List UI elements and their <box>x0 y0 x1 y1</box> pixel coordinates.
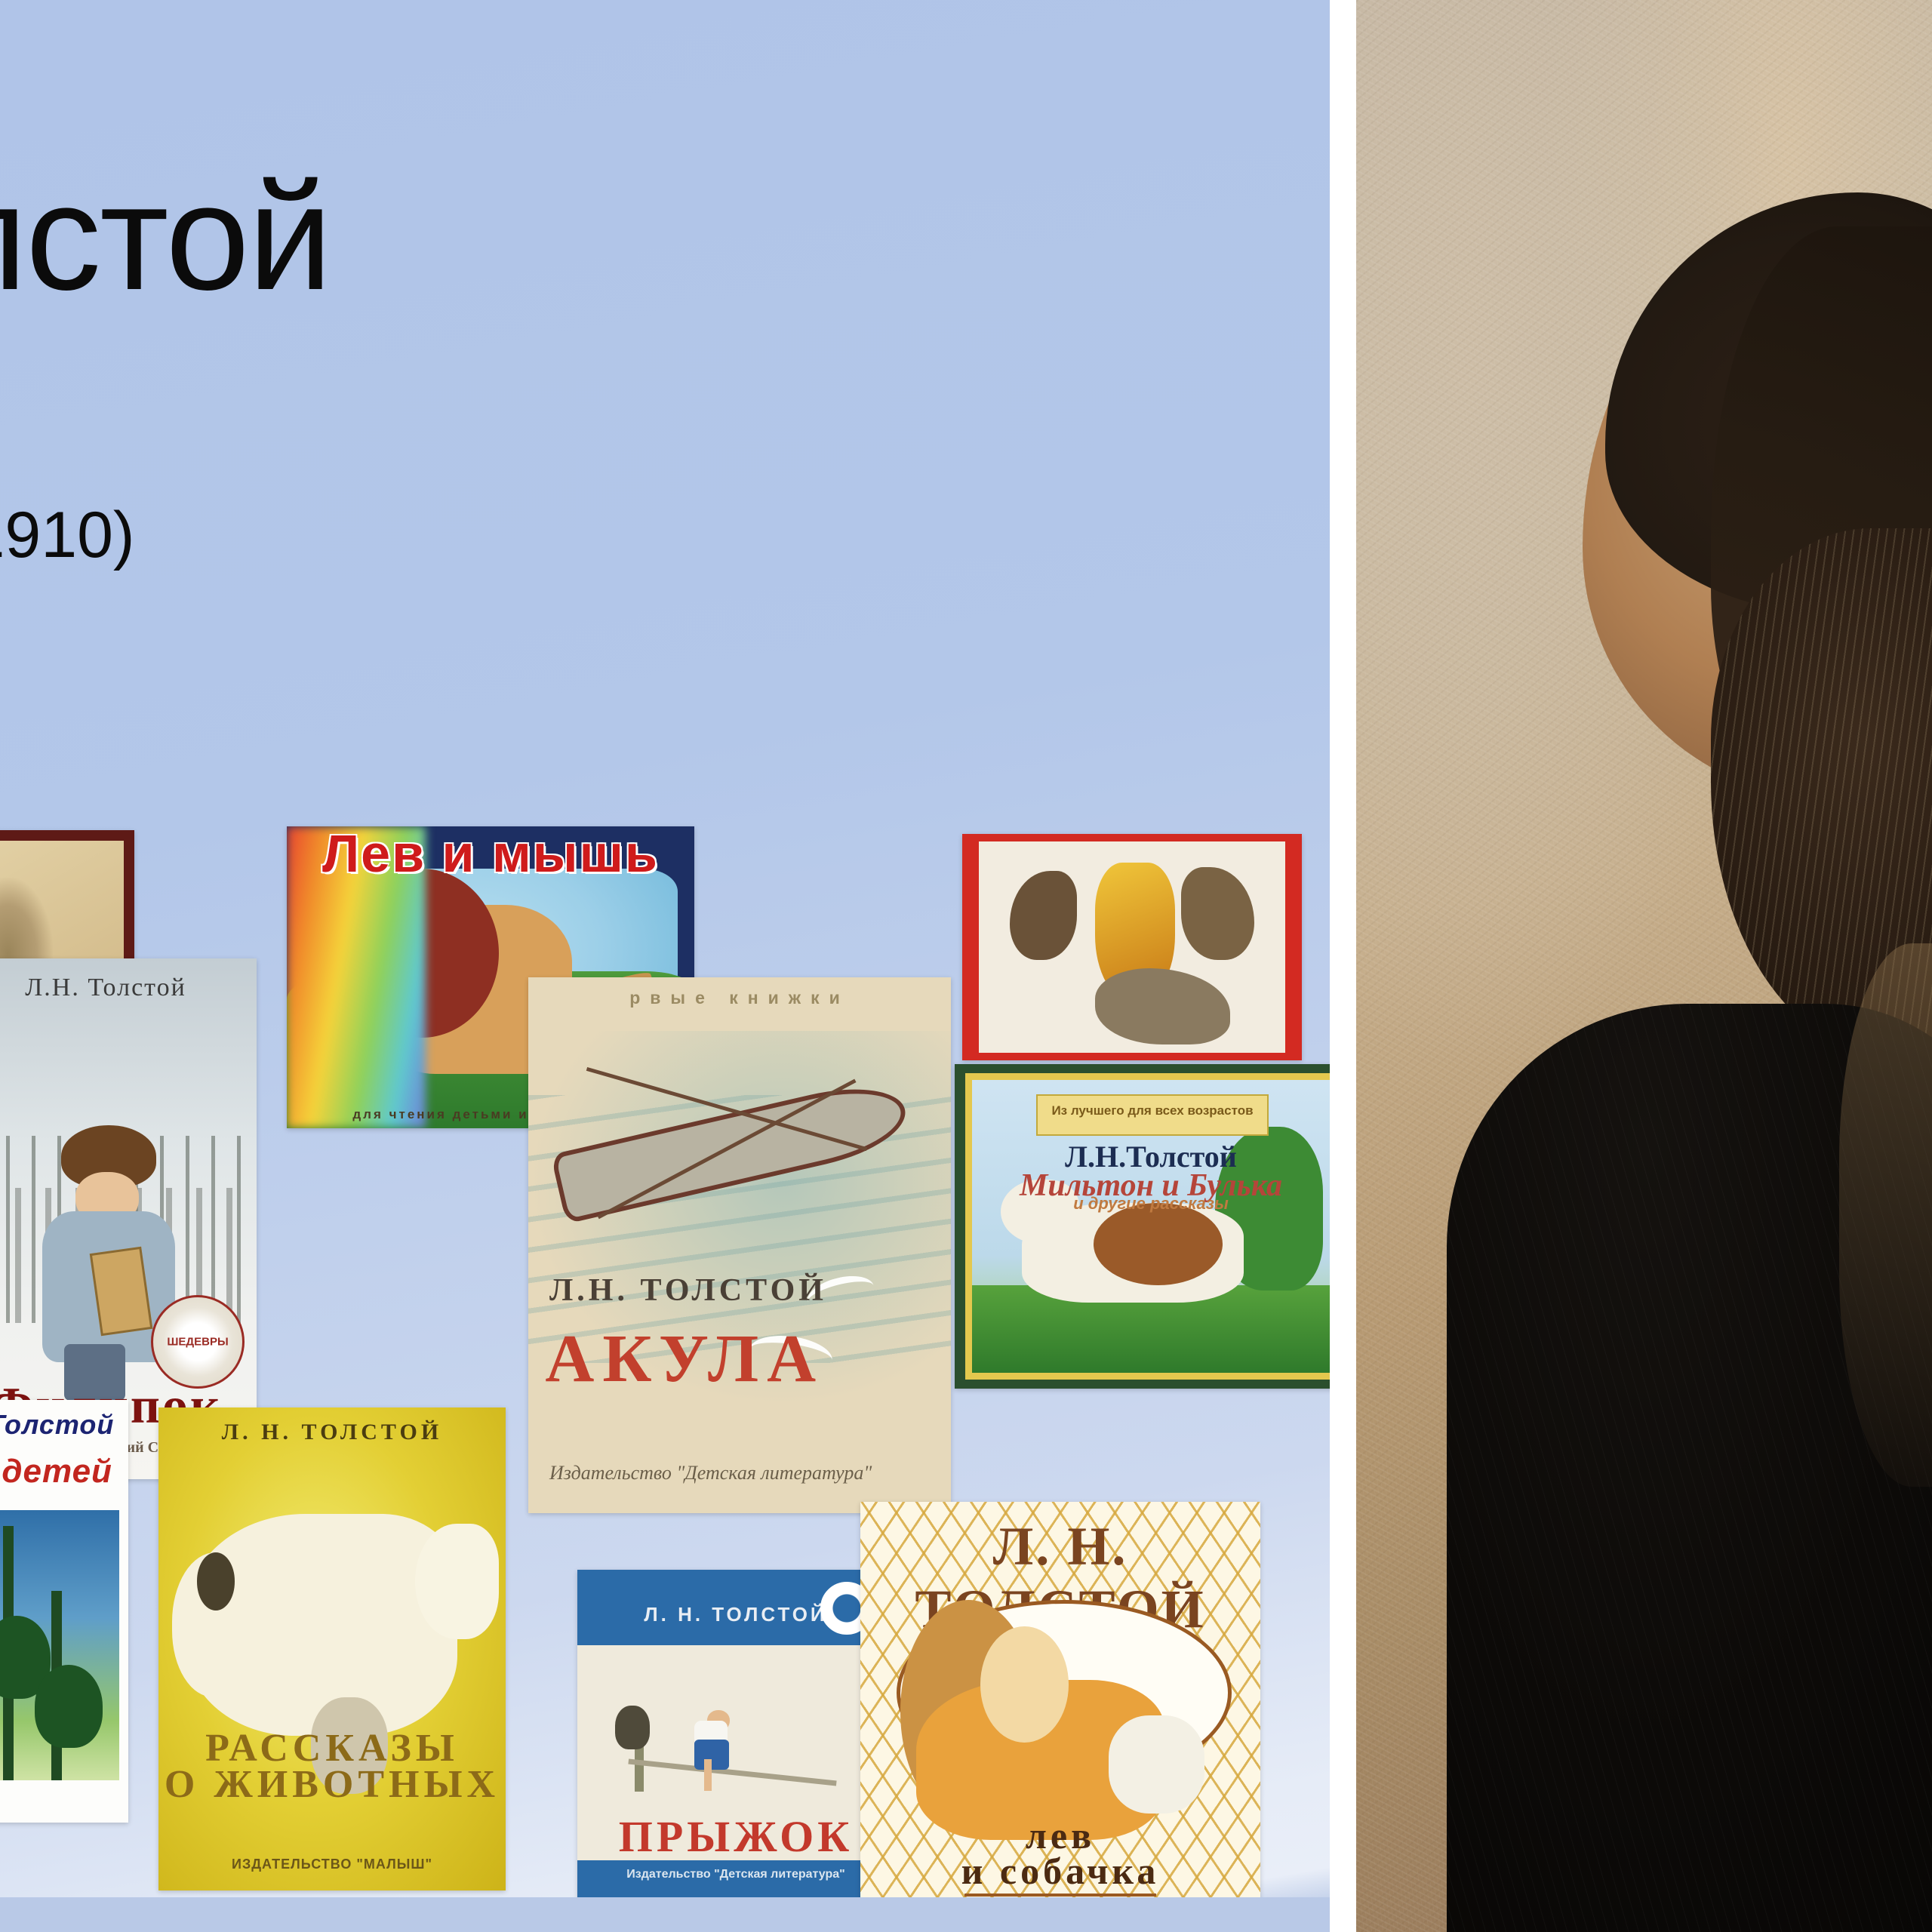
book-cover-dlya-detei: Л.Н. Толстой Для детей <box>0 1400 128 1823</box>
book-cover-pryzhok: Л. Н. ТОЛСТОЙ ПРЫЖОК Издательство "Детск… <box>577 1570 894 1932</box>
puppy-illustration <box>1109 1715 1204 1814</box>
seal-label: ШЕДЕВРЫ <box>167 1336 228 1349</box>
tree-canopy <box>35 1665 103 1748</box>
boy-shorts <box>694 1740 729 1770</box>
cover-banner-text: Из лучшего для всех возрастов <box>1038 1103 1266 1118</box>
slide-bottom-band <box>0 1897 1330 1932</box>
cover-subtitle-text: и другие рассказы <box>972 1194 1330 1214</box>
boy-book-prop <box>89 1247 152 1336</box>
book-cover-lev-i-sobachka: Л. Н. ТОЛСТОЙ лев и собачка Издательство… <box>860 1502 1260 1932</box>
cover-publisher-text: Издательство "Детская литература" <box>549 1462 872 1484</box>
forest-illustration <box>0 1510 119 1780</box>
cover-author-text: Л.Н. Толстой <box>0 1409 128 1441</box>
cover-frame: Из лучшего для всех возрастов Л.Н.Толсто… <box>965 1073 1330 1380</box>
page-subtitle: (1828-1910) <box>0 498 135 573</box>
cover-seal-badge: ШЕДЕВРЫ <box>151 1295 245 1389</box>
bird-illustration <box>1181 867 1254 960</box>
boat-hull <box>550 1075 912 1225</box>
boat-illustration <box>554 1052 900 1234</box>
cover-publisher-text: ИЗДАТЕЛЬСТВО "МАЛЫШ" <box>158 1857 506 1872</box>
cover-series-text: рвые книжки <box>528 988 951 1008</box>
book-cover-rasskazy-o-zhivotnyh: Л. Н. ТОЛСТОЙ РАССКАЗЫ О ЖИВОТНЫХ ИЗДАТЕ… <box>158 1407 506 1890</box>
tolstoy-portrait-image <box>1356 0 1932 1932</box>
cover-title-line2: и собачка <box>860 1849 1260 1893</box>
ship-spar <box>629 1759 837 1786</box>
cover-banner: Из лучшего для всех возрастов <box>1036 1094 1268 1135</box>
cover-title-text: Для детей <box>0 1453 128 1491</box>
slide-background: Толстой (1828-1910) ких Л.Н. Толстой <box>0 0 1330 1932</box>
page-title: Толстой <box>0 162 331 313</box>
book-cover-milton-i-bulka: Из лучшего для всех возрастов Л.Н.Толсто… <box>955 1064 1330 1389</box>
dog-spot <box>1094 1203 1223 1285</box>
book-covers-collage: ких Л.Н. Толстой ШЕДЕВРЫ Филипок <box>0 845 1330 1932</box>
book-cover-akula: рвые книжки Л.Н. ТОЛСТОЙ АКУЛА Издательс… <box>528 977 951 1513</box>
dog-ear <box>197 1552 235 1611</box>
cover-paper <box>979 841 1285 1053</box>
cover-author-text: Л.Н. Толстой <box>0 974 257 1002</box>
cover-title-text: ПРЫЖОК <box>577 1811 894 1862</box>
monkey-illustration <box>615 1706 650 1749</box>
boy-legs <box>704 1759 712 1791</box>
cover-author-text: Л. Н. ТОЛСТОЙ <box>158 1420 506 1445</box>
cover-author-text: Л.Н. ТОЛСТОЙ <box>549 1272 827 1309</box>
bird-illustration <box>1010 871 1077 960</box>
dog-tail <box>415 1524 498 1640</box>
presentation-slide: Толстой (1828-1910) ких Л.Н. Толстой <box>0 0 1932 1932</box>
book-cover-galka-i-kuvshin <box>962 834 1302 1060</box>
cover-divider <box>964 1894 1156 1897</box>
bird-illustration <box>1095 968 1230 1044</box>
cover-title-text: Лев и мышь <box>287 826 694 884</box>
panel-divider <box>1330 0 1356 1932</box>
lion-face <box>980 1626 1069 1742</box>
cover-publisher-text: Издательство "Детская литература" <box>577 1868 894 1881</box>
cover-title-line2: О ЖИВОТНЫХ <box>158 1762 506 1807</box>
cover-title-text: АКУЛА <box>545 1320 824 1398</box>
